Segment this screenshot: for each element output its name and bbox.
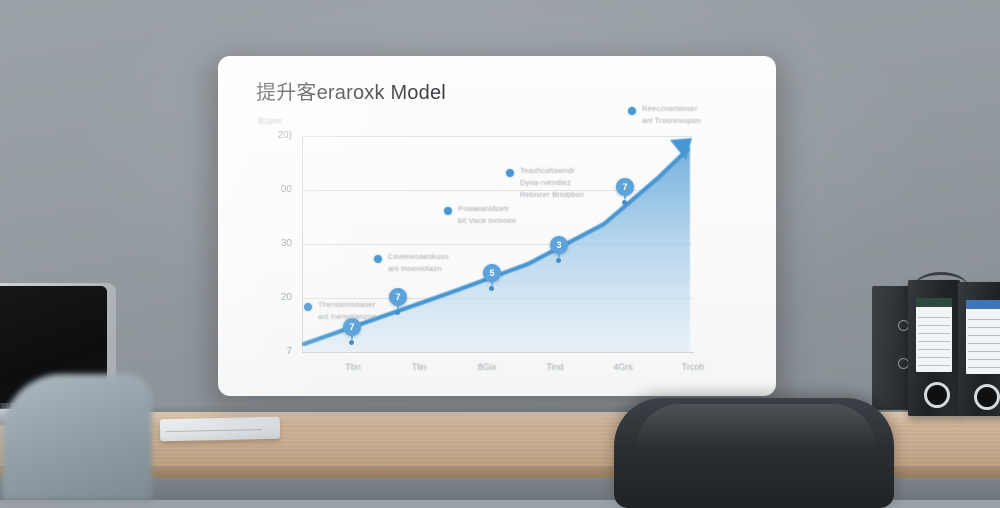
growth-chart: 此(gcm 20) 00 30 20 7	[218, 56, 776, 396]
chart-annotation: Teaxhcoltawndr Dyna-rvendiez Rebixrer Br…	[506, 166, 584, 201]
annotation-text: Teaxhcoltawndr Dyna-rvendiez Rebixrer Br…	[520, 166, 584, 201]
annotation-line: Teaxhcoltawndr	[520, 166, 584, 177]
annotation-line: Reecznortonser	[642, 104, 701, 115]
presentation-card: 提升客eraroxk Model 此(gcm 20) 00 30 20 7	[218, 56, 776, 396]
x-tick-label: 8Gix	[452, 362, 522, 372]
x-tick-label: Tbn	[318, 362, 388, 372]
office-chair-highlight	[636, 404, 876, 448]
annotation-line: bit Vace ovmoee	[458, 216, 516, 227]
pin-number: 7	[395, 292, 400, 302]
annotation-text: Poaaeanidoetr bit Vace ovmoee	[458, 204, 516, 227]
data-point	[489, 286, 494, 291]
chart-annotation: Thenoenmoaser anl Inemotanzoe	[304, 300, 376, 323]
annotation-line: Poaaeanidoetr	[458, 204, 516, 215]
chart-marker-pin[interactable]: 3	[550, 236, 568, 258]
data-point	[395, 310, 400, 315]
pin-number: 7	[349, 322, 354, 332]
binder-label-strip	[916, 298, 952, 307]
binder-label	[916, 298, 952, 372]
annotation-dot-icon	[374, 255, 382, 263]
binder-finger-hole	[974, 384, 1000, 410]
annotation-line: ani Inoeniolazn	[388, 264, 449, 275]
binder-label	[966, 300, 1000, 374]
annotation-dot-icon	[444, 207, 452, 215]
binder-label-lines	[918, 310, 950, 368]
binder-finger-hole	[924, 382, 950, 408]
x-tick-label: 4Grs	[588, 362, 658, 372]
pin-number: 7	[622, 182, 627, 192]
annotation-text: Reecznortonser anl Troonnvopon	[642, 104, 701, 127]
annotation-dot-icon	[304, 303, 312, 311]
binder-left	[908, 280, 960, 416]
x-tick-label: Tind	[520, 362, 590, 372]
chart-annotation: Reecznortonser anl Troonnvopon	[628, 104, 701, 127]
pin-number: 3	[556, 240, 561, 250]
armchair-foreground	[2, 374, 152, 500]
office-scene: 提升客eraroxk Model 此(gcm 20) 00 30 20 7	[0, 0, 1000, 500]
papers-stack	[160, 417, 280, 442]
data-point	[556, 258, 561, 263]
chart-marker-pin[interactable]: 7	[616, 178, 634, 200]
chart-marker-pin[interactable]: 7	[389, 288, 407, 310]
binder-back-panel	[872, 286, 912, 410]
x-tick-label: Trcoh	[658, 362, 728, 372]
binder-right	[958, 282, 1000, 416]
data-point	[349, 340, 354, 345]
chart-marker-pin[interactable]: 5	[483, 264, 501, 286]
chart-annotation: Ceveneoaeskuvo ani Inoeniolazn	[374, 252, 449, 275]
annotation-line: Dyna-rvendiez	[520, 178, 584, 189]
chart-annotation: Poaaeanidoetr bit Vace ovmoee	[444, 204, 516, 227]
binder-label-lines	[968, 312, 1000, 370]
binder-label-strip	[966, 300, 1000, 309]
pin-number: 5	[489, 268, 494, 278]
annotation-text: Thenoenmoaser anl Inemotanzoe	[318, 300, 376, 323]
annotation-line: Rebixrer Brtobbon	[520, 190, 584, 201]
annotation-line: Thenoenmoaser	[318, 300, 376, 311]
annotation-dot-icon	[628, 107, 636, 115]
annotation-line: anl Inemotanzoe	[318, 312, 376, 323]
annotation-line: Ceveneoaeskuvo	[388, 252, 449, 263]
x-tick-label: Tlin	[384, 362, 454, 372]
annotation-dot-icon	[506, 169, 514, 177]
annotation-text: Ceveneoaeskuvo ani Inoeniolazn	[388, 252, 449, 275]
binder-group	[872, 272, 1000, 422]
data-point	[622, 200, 627, 205]
annotation-line: anl Troonnvopon	[642, 116, 701, 127]
